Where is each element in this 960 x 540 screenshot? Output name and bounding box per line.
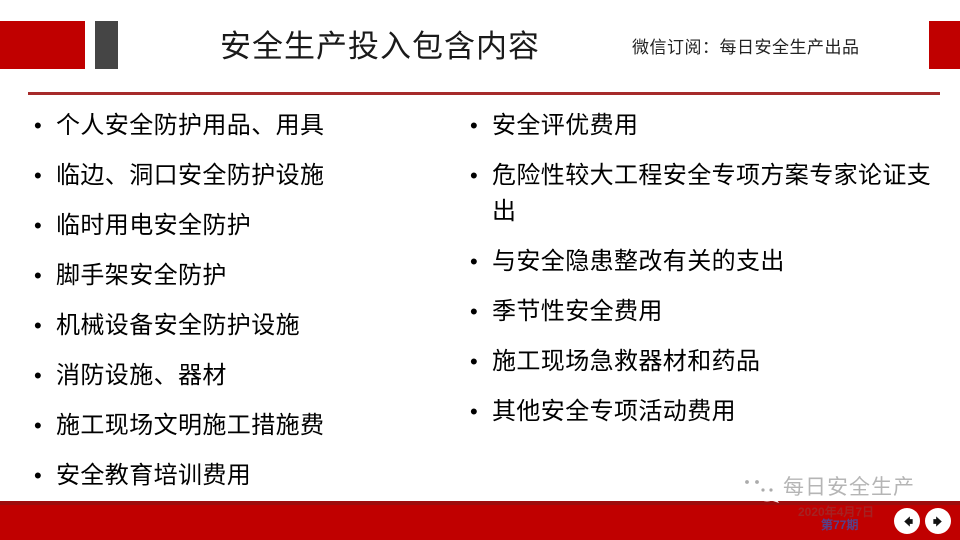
list-item-label: 临边、洞口安全防护设施 [56,158,456,194]
list-item-label: 机械设备安全防护设施 [56,308,456,344]
header-decoration-red-right [929,21,960,69]
list-item: • 危险性较大工程安全专项方案专家论证支出 [462,158,932,230]
bullet-point-icon: • [26,458,56,494]
list-item-label: 季节性安全费用 [492,294,932,330]
arrow-left-icon [900,514,915,529]
list-item-label: 其他安全专项活动费用 [492,394,932,430]
list-item: • 施工现场文明施工措施费 [26,408,456,444]
header-decoration-red-left [0,21,85,69]
arrow-right-icon [931,514,946,529]
list-item: • 安全教育培训费用 [26,458,456,494]
list-item-label: 消防设施、器材 [56,358,456,394]
watermark: 每日安全生产 2020年4月7日 第77期 [735,468,960,540]
header-decoration-gray-bar [95,21,118,69]
list-item-label: 危险性较大工程安全专项方案专家论证支出 [492,158,932,230]
list-item: • 脚手架安全防护 [26,258,456,294]
bullet-point-icon: • [462,244,492,280]
list-item: • 机械设备安全防护设施 [26,308,456,344]
bullet-point-icon: • [26,258,56,294]
list-item: • 安全评优费用 [462,108,932,144]
bullet-point-icon: • [462,108,492,144]
bullet-point-icon: • [462,294,492,330]
list-item: • 其他安全专项活动费用 [462,394,932,430]
bullet-point-icon: • [26,208,56,244]
list-item-label: 个人安全防护用品、用具 [56,108,456,144]
header-divider [28,92,940,95]
bullet-point-icon: • [26,408,56,444]
list-item: • 消防设施、器材 [26,358,456,394]
list-item-label: 施工现场急救器材和药品 [492,344,932,380]
slide-canvas: 安全生产投入包含内容 微信订阅：每日安全生产出品 • 个人安全防护用品、用具 •… [0,0,960,540]
bullet-point-icon: • [26,358,56,394]
bullet-point-icon: • [462,394,492,430]
watermark-issue: 第77期 [821,518,858,532]
bullet-point-icon: • [462,344,492,380]
bullet-list-right: • 安全评优费用 • 危险性较大工程安全专项方案专家论证支出 • 与安全隐患整改… [462,108,932,444]
page-subtitle: 微信订阅：每日安全生产出品 [632,36,860,60]
watermark-date: 2020年4月7日 [798,505,874,519]
bullet-point-icon: • [26,158,56,194]
list-item: • 个人安全防护用品、用具 [26,108,456,144]
bullet-list-left: • 个人安全防护用品、用具 • 临边、洞口安全防护设施 • 临时用电安全防护 •… [26,108,456,540]
list-item-label: 安全评优费用 [492,108,932,144]
list-item-label: 脚手架安全防护 [56,258,456,294]
list-item: • 临边、洞口安全防护设施 [26,158,456,194]
list-item: • 施工现场急救器材和药品 [462,344,932,380]
bullet-point-icon: • [462,158,492,194]
page-title: 安全生产投入包含内容 [150,27,610,67]
wechat-icon [737,472,781,504]
watermark-brand: 每日安全生产 [783,474,915,502]
list-item-label: 安全教育培训费用 [56,458,456,494]
bullet-point-icon: • [26,308,56,344]
list-item: • 临时用电安全防护 [26,208,456,244]
list-item: • 与安全隐患整改有关的支出 [462,244,932,280]
previous-slide-button[interactable] [894,508,920,534]
bullet-point-icon: • [26,108,56,144]
list-item-label: 与安全隐患整改有关的支出 [492,244,932,280]
next-slide-button[interactable] [925,508,951,534]
list-item-label: 施工现场文明施工措施费 [56,408,456,444]
list-item: • 季节性安全费用 [462,294,932,330]
list-item-label: 临时用电安全防护 [56,208,456,244]
